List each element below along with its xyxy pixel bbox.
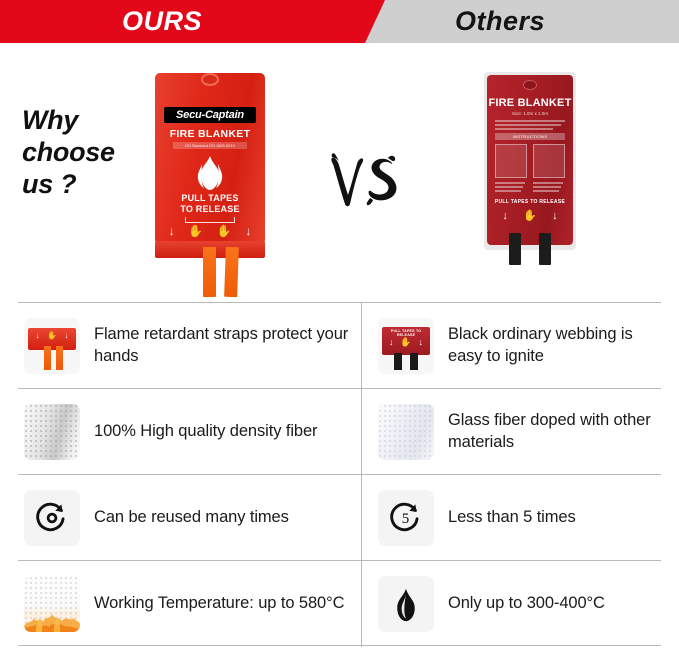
others-product-image: FIRE BLANKET Size: 1.0m x 1.0m INSTRUCTI… [487,75,573,265]
others-instructions-label: INSTRUCTIONS [495,133,565,140]
why-line-3: us ? [22,169,115,201]
ours-pull-instruction: PULL TAPES TO RELEASE [155,193,265,215]
reuse-count-number: 5 [378,490,434,546]
others-feature-text: Black ordinary webbing is easy to ignite [448,324,661,368]
ours-feature-text: Working Temperature: up to 580°C [94,593,344,615]
others-feature-text: Only up to 300-400°C [448,593,605,615]
ours-pull-line-2: TO RELEASE [155,204,265,215]
arrow-down-icon: ↓ [64,332,68,340]
ours-feature-text: Flame retardant straps protect your hand… [94,324,361,368]
table-row: Can be reused many times 5 Less than 5 t… [18,474,661,560]
ours-feature-text: Can be reused many times [94,507,289,529]
ours-product-title: FIRE BLANKET [155,128,265,140]
arrow-down-icon: ↓ [552,211,558,222]
arrow-down-icon: ↓ [389,338,394,347]
others-black-strap [539,233,551,265]
ours-cell: Working Temperature: up to 580°C [18,561,361,647]
others-feature-text: Less than 5 times [448,507,576,529]
others-product-title: FIRE BLANKET [487,97,573,109]
others-feature-text: Glass fiber doped with other materials [448,410,661,454]
arrow-down-icon: ↓ [419,338,424,347]
arrow-down-icon: ↓ [169,225,175,237]
others-black-strap [509,233,521,265]
flame-icon [193,155,227,191]
others-cell: Only up to 300-400°C [361,561,661,647]
others-hang-hole [523,80,537,90]
ours-pull-line-1: PULL TAPES [155,193,265,204]
hand-pull-icon: ✋ [47,332,57,340]
why-line-2: choose [22,137,115,169]
ours-feature-text: 100% High quality density fiber [94,421,317,443]
others-cell: 5 Less than 5 times [361,475,661,561]
ours-cell: ↓ ✋ ↓ Flame retardant straps protect you… [18,303,361,389]
versus-graphic [326,148,406,210]
fiber-flame-texture-thumb [24,576,80,632]
header-others-label: Others [455,0,545,43]
header-ours-label: OURS [122,0,202,43]
arrow-down-icon: ↓ [502,211,508,222]
others-instruction-panel [533,144,565,178]
reuse-arrow-5-icon: 5 [378,490,434,546]
ours-brand-logo: Secu-Captain [164,107,256,123]
ours-standard-text: EN Standard EN 1869:2019 [173,142,247,149]
comparison-infographic: OURS Others Why choose us ? Secu-Captain… [0,0,679,661]
header-banner: OURS Others [0,0,679,43]
ours-orange-strap [224,247,239,297]
table-row: 100% High quality density fiber Glass fi… [18,388,661,474]
arrow-down-icon: ↓ [245,225,251,237]
ours-cell: Can be reused many times [18,475,361,561]
others-cell: Glass fiber doped with other materials [361,389,661,475]
ours-arrow-row: ↓ ✋ ✋ ↓ [155,223,265,239]
others-arrow-row: ↓ ✋ ↓ [487,208,573,224]
table-row: ↓ ✋ ↓ Flame retardant straps protect you… [18,302,661,388]
others-product-size: Size: 1.0m x 1.0m [487,111,573,116]
why-choose-us-heading: Why choose us ? [22,105,115,201]
hand-pull-icon: ✋ [400,338,411,347]
hand-pull-icon: ✋ [217,225,232,237]
gray-fiber-texture-thumb [24,404,80,460]
arrow-down-icon: ↓ [36,332,40,340]
hero-section: Why choose us ? Secu-Captain FIRE BLANKE… [0,43,679,298]
ours-cell: 100% High quality density fiber [18,389,361,475]
pale-fiber-texture-thumb [378,404,434,460]
comparison-table: ↓ ✋ ↓ Flame retardant straps protect you… [18,302,661,646]
table-row: Working Temperature: up to 580°C Only up… [18,560,661,646]
red-pouch-orange-straps-thumb: ↓ ✋ ↓ [24,318,80,374]
hand-pull-icon: ✋ [523,211,537,222]
ours-hang-hole [201,73,219,86]
red-pouch-black-straps-thumb: PULL TAPES TO RELEASE ↓ ✋ ↓ [378,318,434,374]
others-pull-instruction: PULL TAPES TO RELEASE [487,199,573,205]
ours-orange-strap [203,247,216,297]
ours-product-image: Secu-Captain FIRE BLANKET EN Standard EN… [155,65,265,280]
others-instruction-panel [495,144,527,178]
flame-icon [378,576,434,632]
hand-pull-icon: ✋ [188,225,203,237]
others-cell: PULL TAPES TO RELEASE ↓ ✋ ↓ Black ordina… [361,303,661,389]
why-line-1: Why [22,105,115,137]
reuse-arrow-icon [24,490,80,546]
